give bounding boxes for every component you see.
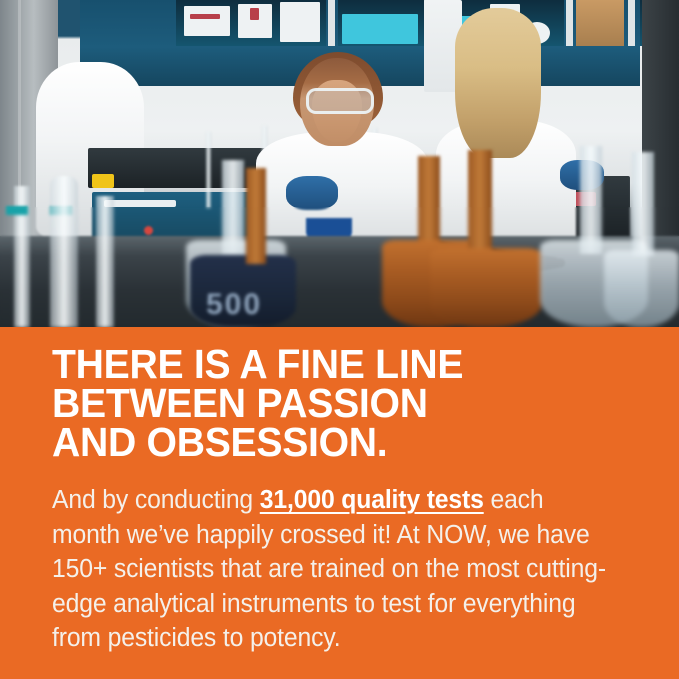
scientist-right-hair xyxy=(455,8,541,158)
scientist-center-glove xyxy=(286,176,338,210)
foreground-depth-blur xyxy=(0,207,679,327)
headline-line-1: THERE IS A FINE LINE xyxy=(52,345,615,384)
instrument-yellow-label xyxy=(92,174,114,188)
cabinet-glass-pane xyxy=(176,0,326,46)
cabinet-liquid-tray xyxy=(342,14,418,44)
advertisement-card: 500 THERE IS A FINE LINE BETWEEN PASSION… xyxy=(0,0,679,679)
cabinet-label xyxy=(190,14,220,19)
headline-line-2: BETWEEN PASSION xyxy=(52,384,615,423)
instrument-display-strip xyxy=(104,200,176,207)
cabinet-cardboard-box xyxy=(576,0,624,46)
safety-goggles-icon xyxy=(306,88,374,114)
cabinet-glass-pane xyxy=(338,0,424,46)
cabinet-bottle xyxy=(184,6,230,36)
body-text-before: And by conducting xyxy=(52,486,260,514)
headline-line-3: AND OBSESSION. xyxy=(52,423,615,462)
cabinet-frame-divider xyxy=(566,0,573,46)
body-paragraph: And by conducting 31,000 quality tests e… xyxy=(52,483,617,656)
cabinet-frame-divider xyxy=(328,0,335,46)
page-title: THERE IS A FINE LINE BETWEEN PASSION AND… xyxy=(52,345,615,462)
retort-stand-rod xyxy=(206,132,211,208)
cabinet-marker xyxy=(250,8,259,20)
lab-photo: 500 xyxy=(0,0,679,327)
cabinet-container xyxy=(280,2,320,42)
quality-tests-highlight: 31,000 quality tests xyxy=(260,486,484,514)
cabinet-frame-divider xyxy=(628,0,635,46)
